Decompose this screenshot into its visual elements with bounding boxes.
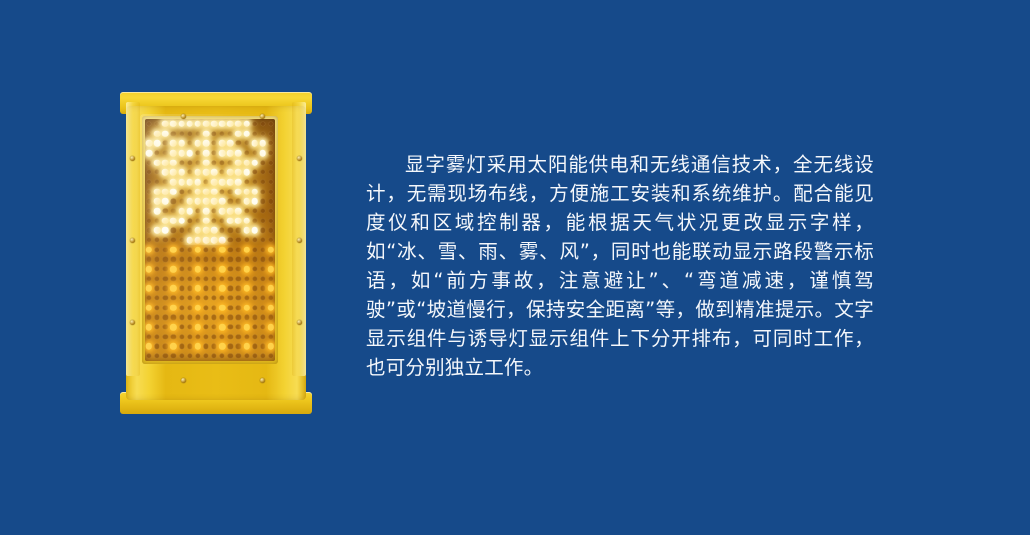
text-panel-led	[202, 177, 210, 187]
text-panel-led	[210, 226, 218, 236]
guide-panel-led	[251, 303, 259, 313]
guide-panel-led	[210, 313, 218, 323]
text-panel-led	[202, 167, 210, 177]
guide-panel-led	[161, 274, 169, 284]
text-panel-led	[210, 138, 218, 148]
guide-panel-led	[234, 274, 242, 284]
guide-panel-led	[178, 313, 186, 323]
guide-panel-led	[202, 332, 210, 342]
guide-panel-led	[202, 255, 210, 265]
text-panel-led	[243, 206, 251, 216]
text-panel-led	[145, 226, 153, 236]
guide-panel-led	[234, 332, 242, 342]
text-panel-led	[267, 216, 275, 226]
text-panel-led	[210, 167, 218, 177]
guide-panel-led	[186, 322, 194, 332]
guide-panel-led	[169, 245, 177, 255]
guide-panel-led	[161, 322, 169, 332]
text-panel-led	[153, 119, 161, 129]
guide-panel-led	[259, 274, 267, 284]
guide-panel-led	[267, 245, 275, 255]
guide-panel-led	[194, 351, 202, 361]
guide-panel-led	[267, 284, 275, 294]
text-panel-led	[161, 226, 169, 236]
guide-panel-led	[178, 293, 186, 303]
text-panel-led	[145, 158, 153, 168]
guide-panel-led	[259, 284, 267, 294]
text-panel-led	[259, 177, 267, 187]
text-panel-led	[210, 187, 218, 197]
text-panel-led	[226, 187, 234, 197]
guide-panel-led	[267, 274, 275, 284]
text-panel-led	[267, 167, 275, 177]
guide-panel-led	[243, 255, 251, 265]
text-panel-led	[243, 216, 251, 226]
guide-panel-led	[161, 284, 169, 294]
guide-panel-led	[218, 303, 226, 313]
fog-light-device-image	[120, 92, 312, 414]
guide-panel-led	[243, 274, 251, 284]
text-panel-led	[161, 158, 169, 168]
text-panel-led	[178, 216, 186, 226]
text-panel-led	[243, 226, 251, 236]
text-panel-led	[226, 158, 234, 168]
text-panel-led	[243, 235, 251, 245]
text-panel-led	[145, 148, 153, 158]
guide-panel-led	[251, 264, 259, 274]
guide-panel-led	[145, 293, 153, 303]
text-panel-led	[267, 226, 275, 236]
guide-panel-led	[161, 245, 169, 255]
guide-panel-led	[210, 322, 218, 332]
guide-panel-led	[259, 303, 267, 313]
guide-panel-led	[259, 313, 267, 323]
text-panel-led	[218, 177, 226, 187]
text-panel-led	[218, 226, 226, 236]
guide-panel-led	[218, 342, 226, 352]
text-panel-led	[234, 235, 242, 245]
text-panel-led	[161, 216, 169, 226]
guide-panel-led	[251, 284, 259, 294]
guide-panel-led	[194, 332, 202, 342]
text-panel-led	[210, 206, 218, 216]
text-panel-led	[243, 197, 251, 207]
text-panel-led	[178, 167, 186, 177]
guide-panel-led	[202, 264, 210, 274]
guide-panel-led	[145, 274, 153, 284]
text-panel-led	[259, 138, 267, 148]
guide-panel-led	[194, 322, 202, 332]
guide-panel-led	[234, 303, 242, 313]
text-panel-led	[161, 138, 169, 148]
guide-panel-led	[218, 313, 226, 323]
guide-panel-led	[267, 303, 275, 313]
guide-panel-led	[226, 245, 234, 255]
guide-panel-led	[202, 245, 210, 255]
guide-panel-led	[178, 351, 186, 361]
text-panel-led	[153, 206, 161, 216]
text-panel-led	[226, 235, 234, 245]
text-panel-led	[178, 197, 186, 207]
guide-panel-led	[153, 255, 161, 265]
guide-panel-led	[194, 342, 202, 352]
text-panel-led	[186, 177, 194, 187]
guide-panel-led	[251, 342, 259, 352]
text-panel-led	[169, 167, 177, 177]
text-panel-led	[169, 226, 177, 236]
guide-panel-led	[169, 293, 177, 303]
guide-panel-led	[194, 284, 202, 294]
text-panel-led	[259, 158, 267, 168]
text-panel-led	[145, 138, 153, 148]
text-panel-led	[178, 138, 186, 148]
text-panel-led	[169, 235, 177, 245]
text-panel-led	[145, 119, 153, 129]
text-panel-led	[169, 148, 177, 158]
guide-panel-led	[153, 245, 161, 255]
guide-panel-led	[178, 274, 186, 284]
text-panel-led	[218, 187, 226, 197]
text-panel-led	[186, 129, 194, 139]
guide-panel-led	[218, 284, 226, 294]
text-panel-led	[194, 206, 202, 216]
guide-panel-led	[178, 342, 186, 352]
text-panel-led	[153, 167, 161, 177]
text-panel-led	[226, 119, 234, 129]
guide-panel-led	[186, 313, 194, 323]
text-panel-led	[169, 158, 177, 168]
guide-panel-led	[186, 274, 194, 284]
guide-panel-led	[161, 255, 169, 265]
text-panel-led	[243, 167, 251, 177]
guide-panel-led	[169, 284, 177, 294]
text-panel-led	[178, 148, 186, 158]
text-panel-led	[210, 177, 218, 187]
guide-panel-led	[243, 332, 251, 342]
text-panel-led	[178, 158, 186, 168]
guide-panel-led	[161, 303, 169, 313]
text-panel-led	[226, 216, 234, 226]
text-panel-led	[251, 119, 259, 129]
text-panel-led	[226, 148, 234, 158]
guide-panel-led	[251, 322, 259, 332]
text-panel-led	[234, 138, 242, 148]
guide-panel-led	[234, 284, 242, 294]
text-panel-led	[194, 148, 202, 158]
text-panel-led	[251, 206, 259, 216]
text-panel-led	[169, 129, 177, 139]
guide-panel-led	[153, 274, 161, 284]
guide-panel-led	[218, 245, 226, 255]
text-panel-led	[202, 235, 210, 245]
text-panel-led	[226, 177, 234, 187]
guide-panel-led	[178, 332, 186, 342]
text-panel-led	[218, 197, 226, 207]
text-panel-led	[234, 158, 242, 168]
guide-panel-led	[194, 245, 202, 255]
guide-panel-led	[251, 351, 259, 361]
screw-top-right	[260, 114, 265, 119]
text-panel-led	[161, 119, 169, 129]
text-panel-led	[169, 216, 177, 226]
guide-panel-led	[161, 332, 169, 342]
guide-panel-led	[169, 322, 177, 332]
text-panel-led	[210, 235, 218, 245]
text-panel-led	[186, 158, 194, 168]
guide-panel-led	[169, 264, 177, 274]
guide-panel-led	[202, 351, 210, 361]
text-panel-led	[153, 187, 161, 197]
text-panel-led	[259, 167, 267, 177]
text-panel-led	[145, 235, 153, 245]
screw-top-left	[181, 114, 186, 119]
text-panel-led	[234, 167, 242, 177]
guide-panel-led	[210, 303, 218, 313]
guide-panel-led	[194, 264, 202, 274]
guide-panel-led	[226, 264, 234, 274]
text-panel-led	[194, 216, 202, 226]
text-panel-led	[186, 167, 194, 177]
guide-panel-led	[202, 342, 210, 352]
guide-panel-led	[169, 332, 177, 342]
guide-panel-led	[226, 303, 234, 313]
guide-panel-led	[218, 274, 226, 284]
text-panel-led	[186, 235, 194, 245]
guide-panel-led	[178, 284, 186, 294]
text-panel-led	[226, 138, 234, 148]
text-panel-led	[234, 119, 242, 129]
text-panel-led	[259, 235, 267, 245]
text-panel-led	[202, 187, 210, 197]
guide-panel-led	[178, 264, 186, 274]
guide-panel-led	[243, 322, 251, 332]
text-panel-led	[145, 129, 153, 139]
guide-panel-led	[153, 293, 161, 303]
text-panel-led	[178, 235, 186, 245]
text-panel-led	[161, 235, 169, 245]
text-panel-led	[210, 148, 218, 158]
text-panel-led	[251, 216, 259, 226]
text-panel-led	[218, 148, 226, 158]
text-panel-led	[259, 148, 267, 158]
text-panel-led	[267, 187, 275, 197]
guide-panel-led	[243, 351, 251, 361]
guide-panel-led	[169, 351, 177, 361]
text-panel-led	[226, 129, 234, 139]
screw-left-middle	[130, 238, 135, 243]
guide-panel-led	[267, 322, 275, 332]
guide-panel-led	[153, 342, 161, 352]
text-panel-led	[267, 148, 275, 158]
text-panel-led	[202, 119, 210, 129]
text-panel-led	[202, 216, 210, 226]
text-panel-led	[259, 226, 267, 236]
text-panel-led	[202, 158, 210, 168]
text-panel-led	[202, 138, 210, 148]
text-panel-led	[267, 206, 275, 216]
text-panel-led	[178, 129, 186, 139]
guide-panel-led	[234, 342, 242, 352]
guide-panel-led	[178, 255, 186, 265]
text-panel-led	[259, 129, 267, 139]
guide-panel-led	[186, 293, 194, 303]
text-panel-led	[186, 187, 194, 197]
product-description: 显字雾灯采用太阳能供电和无线通信技术，全无线设计，无需现场布线，方便施工安装和系…	[366, 150, 874, 382]
text-panel-led	[169, 197, 177, 207]
text-panel-led	[186, 148, 194, 158]
text-panel-led	[153, 177, 161, 187]
guide-panel-led	[202, 322, 210, 332]
text-panel-led	[161, 148, 169, 158]
guide-panel-led	[153, 332, 161, 342]
guide-panel-led	[234, 313, 242, 323]
text-panel-led	[186, 226, 194, 236]
text-panel-led	[243, 177, 251, 187]
guide-panel-led	[234, 293, 242, 303]
text-panel-led	[267, 119, 275, 129]
guide-panel-led	[243, 284, 251, 294]
text-panel-led	[178, 177, 186, 187]
guide-panel-led	[145, 245, 153, 255]
guide-panel-led	[259, 351, 267, 361]
text-panel-led	[145, 197, 153, 207]
guide-panel-led	[145, 332, 153, 342]
guide-panel-led	[226, 322, 234, 332]
guide-panel-led	[259, 255, 267, 265]
text-panel-led	[267, 235, 275, 245]
text-panel-led	[259, 206, 267, 216]
guide-panel-led	[226, 255, 234, 265]
text-panel-led	[259, 119, 267, 129]
text-panel-led	[251, 197, 259, 207]
text-panel-led	[194, 138, 202, 148]
guide-panel-led	[145, 264, 153, 274]
text-panel-led	[267, 138, 275, 148]
text-panel-led	[194, 119, 202, 129]
guide-panel-led	[259, 342, 267, 352]
guide-panel-led	[259, 264, 267, 274]
guide-panel-led	[218, 264, 226, 274]
guide-panel-led	[194, 255, 202, 265]
text-panel-led	[153, 216, 161, 226]
guide-panel-led	[267, 293, 275, 303]
text-panel-led	[251, 226, 259, 236]
guide-panel-led	[202, 313, 210, 323]
text-panel-led	[145, 177, 153, 187]
text-panel-led	[169, 187, 177, 197]
guide-panel-led	[145, 351, 153, 361]
text-panel-led	[259, 197, 267, 207]
description-paragraph: 显字雾灯采用太阳能供电和无线通信技术，全无线设计，无需现场布线，方便施工安装和系…	[366, 150, 874, 382]
text-panel-led	[161, 206, 169, 216]
text-panel-led	[210, 158, 218, 168]
guide-panel-led	[259, 332, 267, 342]
text-panel-led	[251, 158, 259, 168]
guide-panel-led	[226, 274, 234, 284]
guide-panel-led	[267, 313, 275, 323]
text-panel-led	[210, 129, 218, 139]
text-panel-led	[145, 216, 153, 226]
guide-panel-led	[226, 284, 234, 294]
text-panel-led	[218, 216, 226, 226]
screw-left-lower	[130, 320, 135, 325]
guide-panel-led	[186, 332, 194, 342]
text-panel-led	[178, 226, 186, 236]
guide-panel-led	[226, 293, 234, 303]
text-panel-led	[161, 187, 169, 197]
guide-panel-led	[210, 274, 218, 284]
text-panel-led	[243, 138, 251, 148]
guide-panel-led	[145, 313, 153, 323]
text-panel-led	[267, 129, 275, 139]
text-panel-led	[194, 129, 202, 139]
text-panel-led	[243, 187, 251, 197]
text-display-panel	[145, 119, 275, 245]
text-panel-led	[218, 138, 226, 148]
guide-panel-led	[153, 313, 161, 323]
text-panel-led	[259, 216, 267, 226]
text-panel-led	[153, 226, 161, 236]
text-panel-led	[194, 187, 202, 197]
text-panel-led	[243, 119, 251, 129]
text-panel-led	[218, 119, 226, 129]
guide-panel-led	[267, 332, 275, 342]
guide-panel-led	[178, 245, 186, 255]
guide-panel-led	[186, 351, 194, 361]
guide-panel-led	[145, 255, 153, 265]
text-panel-led	[251, 167, 259, 177]
text-panel-led	[259, 187, 267, 197]
text-panel-led	[202, 197, 210, 207]
text-panel-led	[218, 129, 226, 139]
guide-panel-led	[186, 342, 194, 352]
guide-panel-led	[161, 351, 169, 361]
guide-panel-led	[218, 351, 226, 361]
guide-panel-led	[161, 264, 169, 274]
text-panel-led	[178, 119, 186, 129]
text-panel-led	[251, 177, 259, 187]
text-panel-led	[234, 197, 242, 207]
screw-left-upper	[130, 156, 135, 161]
guide-panel-led	[226, 332, 234, 342]
guide-panel-led	[194, 274, 202, 284]
text-panel-led	[218, 206, 226, 216]
guide-panel-led	[145, 342, 153, 352]
text-panel-led	[202, 206, 210, 216]
guide-panel-led	[145, 303, 153, 313]
text-panel-led	[178, 206, 186, 216]
guide-panel-led	[251, 245, 259, 255]
guide-panel-led	[251, 274, 259, 284]
text-panel-led	[194, 158, 202, 168]
text-panel-led	[267, 158, 275, 168]
text-panel-led	[153, 138, 161, 148]
guide-panel-led	[259, 293, 267, 303]
text-panel-led	[202, 129, 210, 139]
guidance-light-panel	[145, 245, 275, 361]
text-panel-led	[186, 216, 194, 226]
guide-panel-led	[243, 293, 251, 303]
guide-panel-led	[186, 284, 194, 294]
guide-panel-led	[186, 245, 194, 255]
text-panel-led	[202, 226, 210, 236]
guide-panel-led	[194, 313, 202, 323]
text-panel-led	[186, 119, 194, 129]
guide-panel-led	[210, 284, 218, 294]
guide-panel-led	[267, 351, 275, 361]
guide-panel-led	[186, 255, 194, 265]
guide-panel-led	[210, 293, 218, 303]
